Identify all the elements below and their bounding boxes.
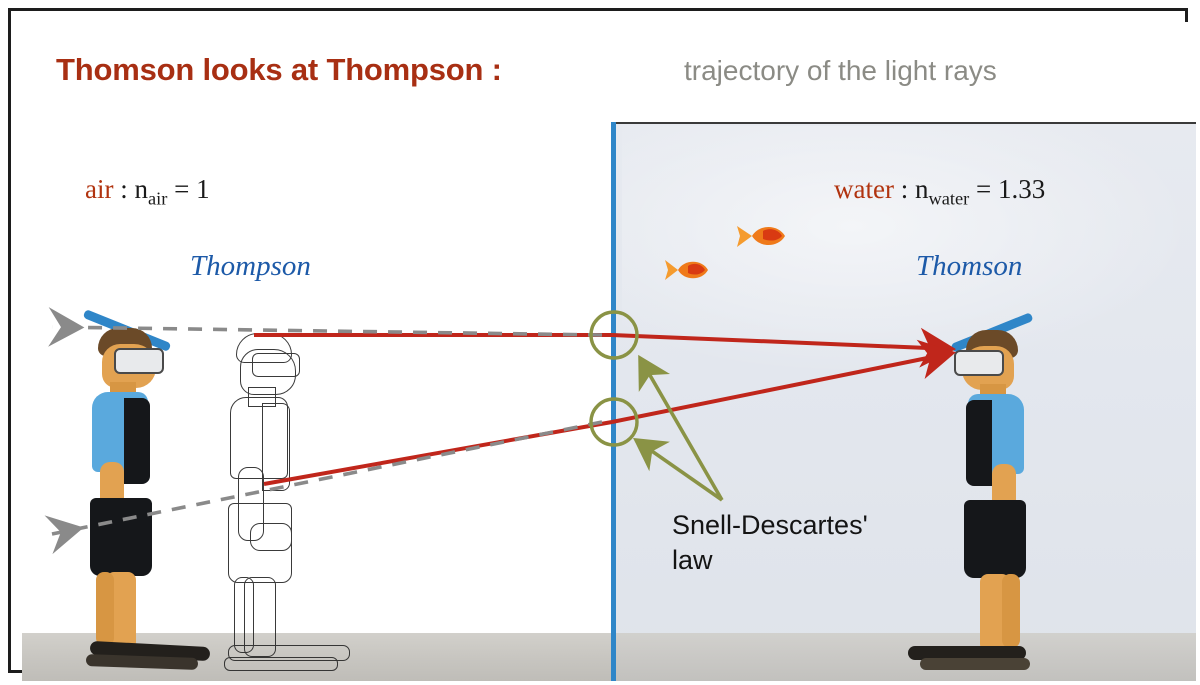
water-index-subscript: water: [928, 188, 969, 208]
air-equals: =: [167, 174, 196, 204]
refracted-ray-upper: [612, 335, 952, 349]
annotation-leader-lower: [636, 440, 722, 500]
label-thomson: Thomson: [916, 250, 1022, 283]
diagram-inner: Thomson looks at Thompson : trajectory o…: [22, 22, 1196, 681]
water-name: water: [834, 174, 894, 204]
air-index-value: 1: [196, 174, 210, 204]
air-separator: :: [113, 174, 134, 204]
water-separator: :: [894, 174, 915, 204]
light-ray-overlay: [22, 22, 1196, 681]
annotation-leader-upper: [640, 358, 722, 500]
air-index-subscript: air: [148, 188, 167, 208]
incident-ray-lower: [264, 422, 612, 484]
water-index-value: 1.33: [998, 174, 1045, 204]
air-name: air: [85, 174, 113, 204]
light-ray-upper: [254, 335, 952, 349]
water-equals: =: [969, 174, 998, 204]
water-index-label: water : nwater = 1.33: [834, 174, 1045, 209]
virtual-ray-lower: [52, 422, 602, 534]
diagram-canvas: Thomson looks at Thompson : trajectory o…: [0, 0, 1200, 685]
light-ray-lower: [264, 353, 952, 484]
label-thompson: Thompson: [190, 250, 311, 283]
water-index-symbol: n: [915, 174, 929, 204]
snell-descartes-law-annotation: Snell-Descartes' law: [672, 508, 868, 577]
air-index-label: air : nair = 1: [85, 174, 210, 209]
page-subtitle: trajectory of the light rays: [684, 55, 997, 87]
virtual-image-rays: [52, 327, 602, 534]
page-title: Thomson looks at Thompson :: [56, 52, 502, 88]
image-frame: Thomson looks at Thompson : trajectory o…: [8, 8, 1188, 673]
air-index-symbol: n: [135, 174, 149, 204]
refracted-ray-lower: [612, 353, 952, 422]
